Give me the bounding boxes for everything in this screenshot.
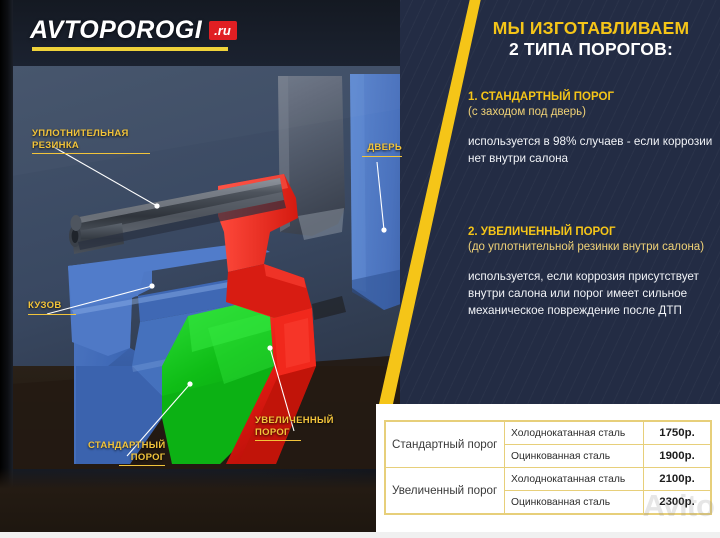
callout-enlarged-sill-label: УВЕЛИЧЕННЫЙ ПОРОГ bbox=[255, 415, 334, 438]
price-table: Стандартный порог Холоднокатанная сталь … bbox=[384, 420, 712, 515]
price-row-0-price: 1750р. bbox=[644, 422, 711, 445]
page-title: МЫ ИЗГОТАВЛИВАЕМ 2 ТИПА ПОРОГОВ: bbox=[466, 18, 716, 60]
price-row-3-material: Оцинкованная сталь bbox=[505, 491, 644, 514]
price-row-2-material: Холоднокатанная сталь bbox=[505, 468, 644, 491]
brand-underline bbox=[32, 47, 228, 51]
callout-seal: УПЛОТНИТЕЛЬНАЯ РЕЗИНКА bbox=[32, 128, 150, 154]
page-title-line2: 2 ТИПА ПОРОГОВ: bbox=[466, 39, 716, 60]
callout-seal-rule bbox=[32, 153, 150, 154]
callout-body-rule bbox=[28, 314, 76, 315]
poster-canvas: УПЛОТНИТЕЛЬНАЯ РЕЗИНКА КУЗОВ ДВЕРЬ СТАНД… bbox=[0, 0, 720, 538]
table-row: Увеличенный порог Холоднокатанная сталь … bbox=[386, 468, 711, 491]
brand-name: AVTOPOROGI bbox=[30, 18, 202, 43]
callout-enlarged-sill-rule bbox=[255, 440, 301, 441]
callout-body: КУЗОВ bbox=[28, 300, 76, 315]
panel-bottom-shadow bbox=[0, 468, 430, 538]
sill-type-2-title: 2. УВЕЛИЧЕННЫЙ ПОРОГ bbox=[468, 225, 713, 240]
render-frame bbox=[12, 66, 417, 469]
callout-standard-sill-label: СТАНДАРТНЫЙ ПОРОГ bbox=[88, 440, 165, 463]
brand-logo[interactable]: AVTOPOROGI .ru bbox=[30, 18, 237, 43]
price-row-2-price: 2100р. bbox=[644, 468, 711, 491]
price-row-3-price: 2300р. bbox=[644, 491, 711, 514]
price-row-1-material: Оцинкованная сталь bbox=[505, 445, 644, 468]
callout-door-rule bbox=[362, 156, 402, 157]
price-table-grid: Стандартный порог Холоднокатанная сталь … bbox=[385, 421, 711, 514]
price-row-1-price: 1900р. bbox=[644, 445, 711, 468]
info-panel-background bbox=[400, 0, 720, 410]
illustration-panel: УПЛОТНИТЕЛЬНАЯ РЕЗИНКА КУЗОВ ДВЕРЬ СТАНД… bbox=[0, 0, 430, 538]
callout-door-label: ДВЕРЬ bbox=[362, 142, 402, 154]
callout-standard-sill: СТАНДАРТНЫЙ ПОРОГ bbox=[88, 440, 165, 466]
sill-type-2-subtitle: (до уплотнительной резинки внутри салона… bbox=[468, 240, 713, 255]
callout-door: ДВЕРЬ bbox=[362, 142, 402, 157]
callout-body-label: КУЗОВ bbox=[28, 300, 76, 312]
page-title-line1: МЫ ИЗГОТАВЛИВАЕМ bbox=[466, 18, 716, 39]
price-row-2-name: Увеличенный порог bbox=[386, 468, 505, 514]
price-row-0-name: Стандартный порог bbox=[386, 422, 505, 468]
brand-tld-badge: .ru bbox=[209, 21, 237, 40]
sill-type-1-subtitle: (с заходом под дверь) bbox=[468, 105, 713, 120]
callout-seal-label: УПЛОТНИТЕЛЬНАЯ РЕЗИНКА bbox=[32, 128, 150, 151]
sill-type-1: 1. СТАНДАРТНЫЙ ПОРОГ (с заходом под двер… bbox=[468, 90, 713, 167]
callout-enlarged-sill: УВЕЛИЧЕННЫЙ ПОРОГ bbox=[255, 415, 334, 441]
sill-type-1-title: 1. СТАНДАРТНЫЙ ПОРОГ bbox=[468, 90, 713, 105]
bottom-edge-strip bbox=[0, 532, 720, 538]
info-panel: МЫ ИЗГОТАВЛИВАЕМ 2 ТИПА ПОРОГОВ: 1. СТАН… bbox=[460, 0, 720, 410]
sill-type-2-body: используется, если коррозия присутствует… bbox=[468, 268, 713, 319]
price-row-0-material: Холоднокатанная сталь bbox=[505, 422, 644, 445]
sill-type-1-body: используется в 98% случаев - если корроз… bbox=[468, 133, 713, 167]
callout-leader-lines bbox=[12, 66, 417, 469]
callout-standard-sill-rule bbox=[119, 465, 165, 466]
sill-type-2: 2. УВЕЛИЧЕННЫЙ ПОРОГ (до уплотнительной … bbox=[468, 225, 713, 319]
table-row: Стандартный порог Холоднокатанная сталь … bbox=[386, 422, 711, 445]
